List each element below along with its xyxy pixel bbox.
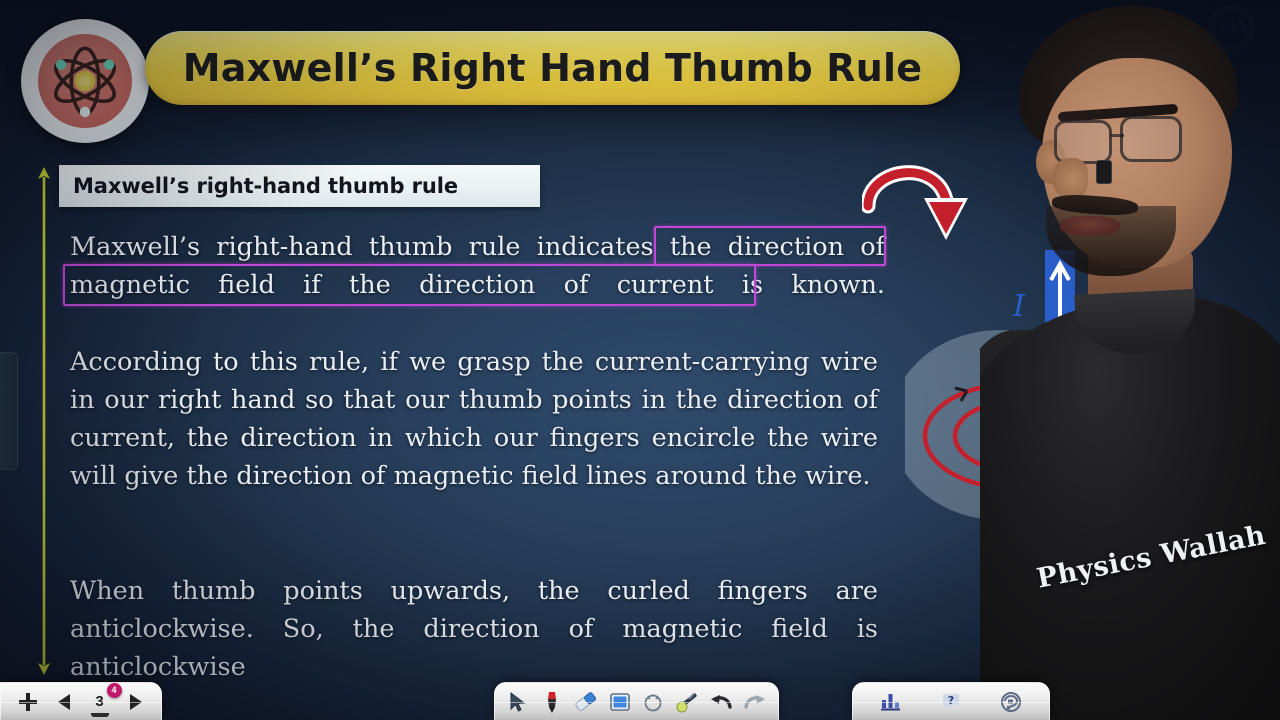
presenter-overlay: Physics Wallah [980,0,1280,720]
chat-button[interactable] [996,687,1026,717]
next-page-button[interactable] [120,687,150,717]
pen-tool[interactable] [537,687,567,717]
bar-chart-icon [879,691,903,713]
page-number: 3 [95,693,103,710]
redo-button[interactable] [740,687,770,717]
page-indicator[interactable]: 3 4 [87,690,113,714]
presenter-shirt [980,296,1280,720]
engagement-toolbar[interactable]: ? [852,682,1050,720]
laser-pointer-icon [675,691,699,713]
page-icon [91,713,109,717]
chat-bubble-icon [999,691,1023,713]
drawing-tools-toolbar[interactable] [494,682,779,720]
poll-button[interactable] [876,687,906,717]
clear-tool[interactable] [638,687,668,717]
presenter-microphone [1096,160,1112,184]
triangle-right-icon [126,693,144,711]
presenter-glasses-bridge [1110,134,1124,137]
doubt-button[interactable]: ? [936,687,966,717]
presenter-mouth [1060,216,1120,236]
presenter-glasses-left-lens [1054,120,1112,164]
select-tool[interactable] [503,687,533,717]
square-icon [609,691,631,713]
undo-button[interactable] [706,687,736,717]
pen-icon [541,690,563,714]
clear-circle-icon [642,691,664,713]
presenter-glasses-right-lens [1120,116,1182,162]
undo-arrow-icon [709,692,733,712]
redo-arrow-icon [743,692,767,712]
add-page-button[interactable] [13,687,43,717]
pw-watermark: PW [1198,4,1264,54]
laser-tool[interactable] [672,687,702,717]
previous-page-button[interactable] [50,687,80,717]
video-slide-stage: Maxwell’s Right Hand Thumb Rule Maxwell’… [0,0,1280,720]
triangle-left-icon [56,693,74,711]
eraser-tool[interactable] [571,687,601,717]
plus-icon [18,692,38,712]
cursor-arrow-icon [507,691,529,713]
shape-tool[interactable] [605,687,635,717]
presenter-nose [1052,158,1088,200]
svg-text:?: ? [948,694,954,707]
question-mark-icon: ? [940,691,962,713]
eraser-icon [574,691,598,713]
pw-watermark-text: PW [1208,15,1256,44]
page-navigation-toolbar[interactable]: 3 4 [0,682,162,720]
